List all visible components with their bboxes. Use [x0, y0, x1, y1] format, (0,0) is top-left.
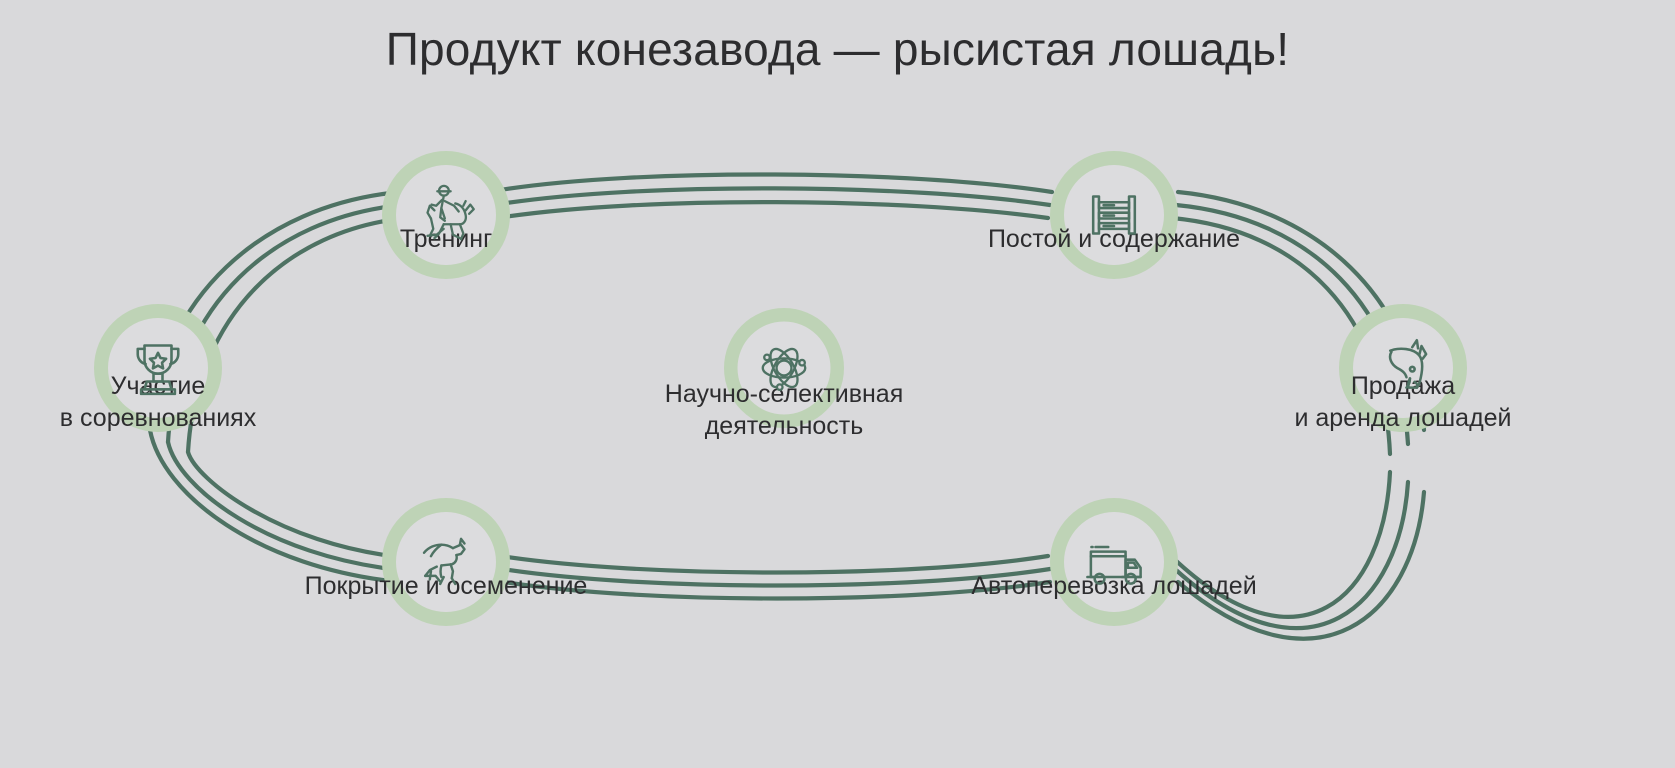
page-title: Продукт конезавода — рысистая лошадь! — [0, 22, 1675, 76]
node-training-disc — [382, 151, 510, 279]
fence-icon — [1077, 178, 1151, 252]
node-sales-label-line2: и аренда лошадей — [1294, 402, 1511, 434]
node-competitions-label-line2: в соревнованиях — [60, 402, 256, 434]
node-science[interactable]: Научно-селективная деятельность — [724, 308, 844, 428]
node-boarding[interactable]: Постой и содержание — [1050, 151, 1178, 279]
node-science-label-line2: деятельность — [665, 410, 903, 442]
two-horses-icon — [409, 525, 483, 599]
node-transport[interactable]: Автоперевозка лошадей — [1050, 498, 1178, 626]
node-training[interactable]: Тренинг — [382, 151, 510, 279]
truck-icon — [1077, 525, 1151, 599]
node-breeding-disc — [382, 498, 510, 626]
node-breeding[interactable]: Покрытие и осеменение — [382, 498, 510, 626]
node-sales[interactable]: Продажа и аренда лошадей — [1339, 304, 1467, 432]
horse-rider-icon — [409, 178, 483, 252]
node-boarding-disc — [1050, 151, 1178, 279]
node-competitions[interactable]: Участие в соревнованиях — [94, 304, 222, 432]
diagram-canvas: Продукт конезавода — рысистая лошадь! — [0, 0, 1675, 768]
trophy-icon — [122, 332, 194, 404]
node-transport-disc — [1050, 498, 1178, 626]
atom-icon — [750, 334, 818, 402]
horse-head-icon — [1366, 331, 1440, 405]
